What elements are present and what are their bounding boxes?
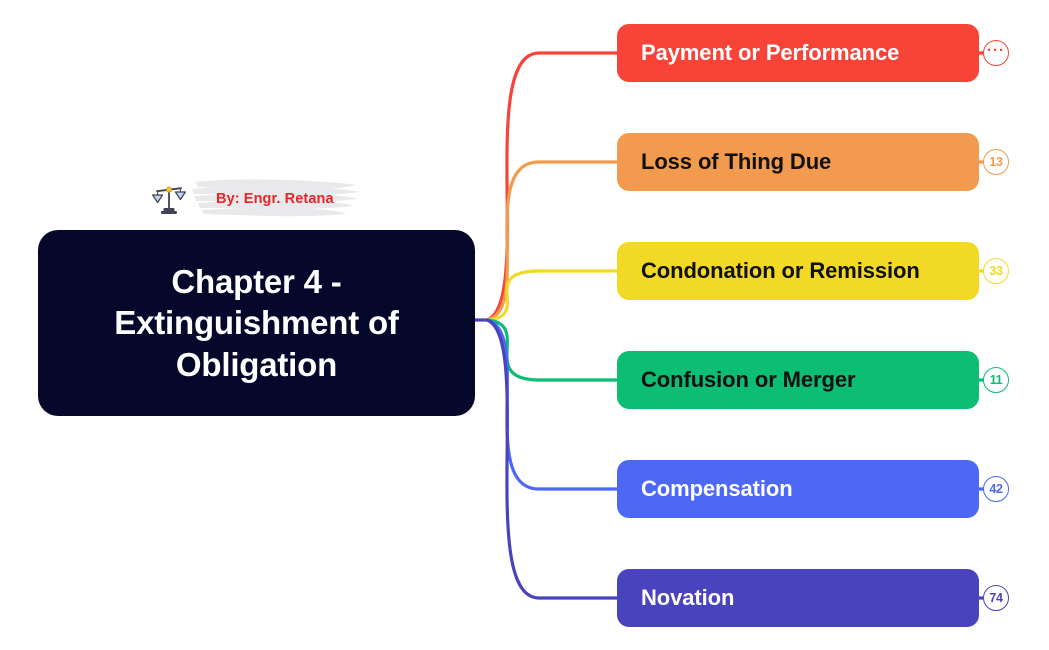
- badge-value: 11: [990, 374, 1003, 387]
- topic-node[interactable]: Novation: [617, 569, 979, 627]
- connector-path: [487, 271, 617, 320]
- topic-node-label: Loss of Thing Due: [641, 149, 831, 175]
- connector-path: [487, 53, 617, 320]
- topic-count-badge[interactable]: 42: [983, 476, 1009, 502]
- topic-node-label: Confusion or Merger: [641, 367, 855, 393]
- topic-count-badge[interactable]: 74: [983, 585, 1009, 611]
- topic-node-label: Payment or Performance: [641, 40, 899, 66]
- central-topic-title: Chapter 4 - Extinguishment of Obligation: [114, 261, 398, 386]
- topic-count-badge[interactable]: 13: [983, 149, 1009, 175]
- central-topic-node[interactable]: Chapter 4 - Extinguishment of Obligation: [38, 230, 475, 416]
- connector-path: [487, 320, 617, 598]
- connector-path: [487, 320, 617, 380]
- topic-count-badge[interactable]: 11: [983, 367, 1009, 393]
- author-chip: By: Engr. Retana: [192, 178, 360, 220]
- balance-scale-icon: [152, 182, 186, 216]
- topic-more-badge[interactable]: ···: [983, 40, 1009, 66]
- topic-node[interactable]: Compensation: [617, 460, 979, 518]
- topic-node-label: Condonation or Remission: [641, 258, 920, 284]
- topic-node-label: Novation: [641, 585, 734, 611]
- connector-path: [487, 162, 617, 320]
- topic-count-badge[interactable]: 33: [983, 258, 1009, 284]
- badge-value: 74: [989, 592, 1002, 605]
- topic-node[interactable]: Loss of Thing Due: [617, 133, 979, 191]
- author-attribution: By: Engr. Retana: [152, 178, 360, 220]
- badge-value: ···: [987, 43, 1005, 58]
- badge-value: 42: [989, 483, 1002, 496]
- topic-node[interactable]: Confusion or Merger: [617, 351, 979, 409]
- mindmap-canvas: Chapter 4 - Extinguishment of Obligation: [0, 0, 1049, 650]
- topic-node[interactable]: Condonation or Remission: [617, 242, 979, 300]
- topic-node[interactable]: Payment or Performance: [617, 24, 979, 82]
- connector-path: [487, 320, 617, 489]
- badge-value: 13: [989, 156, 1002, 169]
- badge-value: 33: [989, 265, 1002, 278]
- topic-node-label: Compensation: [641, 476, 793, 502]
- author-label: By: Engr. Retana: [216, 191, 334, 207]
